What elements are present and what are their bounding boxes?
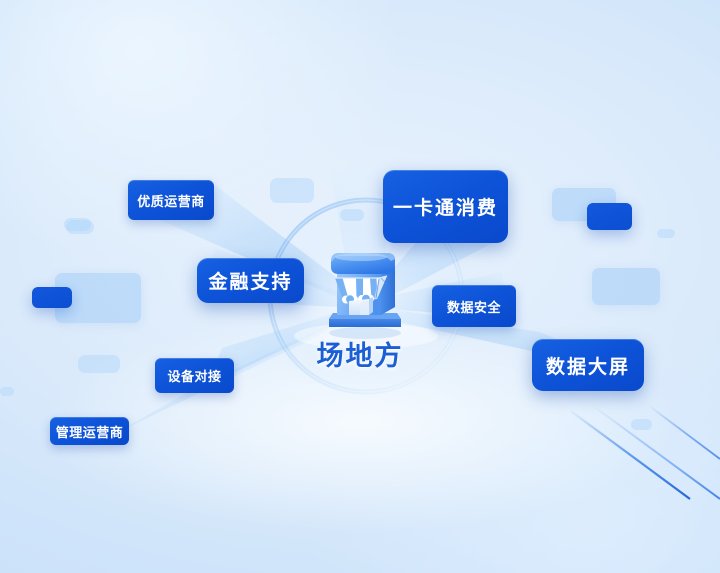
deco-solid-right [587,203,632,230]
node-chip-label: 金融支持 [208,267,292,294]
deco-pale-bottom-right [631,419,652,430]
infographic-canvas: 场地方 优质运营商金融支持一卡通消费数据安全数据大屏设备对接管理运营商 [0,0,720,573]
deco-pale-mid-small [340,209,364,221]
storefront-icon [313,243,413,339]
node-chip-label: 数据安全 [447,297,501,316]
deco-pale-right-tiny [657,229,675,238]
node-chip-label: 一卡通消费 [393,193,498,220]
node-chip-device-docking[interactable]: 设备对接 [155,358,234,393]
deco-solid-left [32,287,72,308]
node-chip-financial-support[interactable]: 金融支持 [197,258,304,303]
deco-pale-top-mid [270,178,314,203]
radiating-beams [0,0,720,573]
node-chip-manage-operator[interactable]: 管理运营商 [50,417,129,445]
accent-lines [570,403,720,513]
node-chip-data-security[interactable]: 数据安全 [432,285,516,327]
deco-pale-right-upper [552,188,616,221]
deco-pale-left-block [55,273,141,323]
node-chip-label: 设备对接 [167,366,221,385]
node-chip-data-dashboard[interactable]: 数据大屏 [532,339,644,391]
node-chip-label: 优质运营商 [137,191,205,210]
node-chip-label: 数据大屏 [546,352,630,379]
background-glow-top-left [0,0,400,260]
deco-pale-left-small [64,218,91,231]
node-chip-label: 管理运营商 [56,422,124,441]
deco-pale-left-mid [66,220,94,234]
deco-pale-bottom-edge [0,387,14,396]
deco-pale-right-lower [592,268,660,305]
node-chip-quality-operator[interactable]: 优质运营商 [128,180,214,220]
node-chip-one-card-payment[interactable]: 一卡通消费 [383,170,508,243]
